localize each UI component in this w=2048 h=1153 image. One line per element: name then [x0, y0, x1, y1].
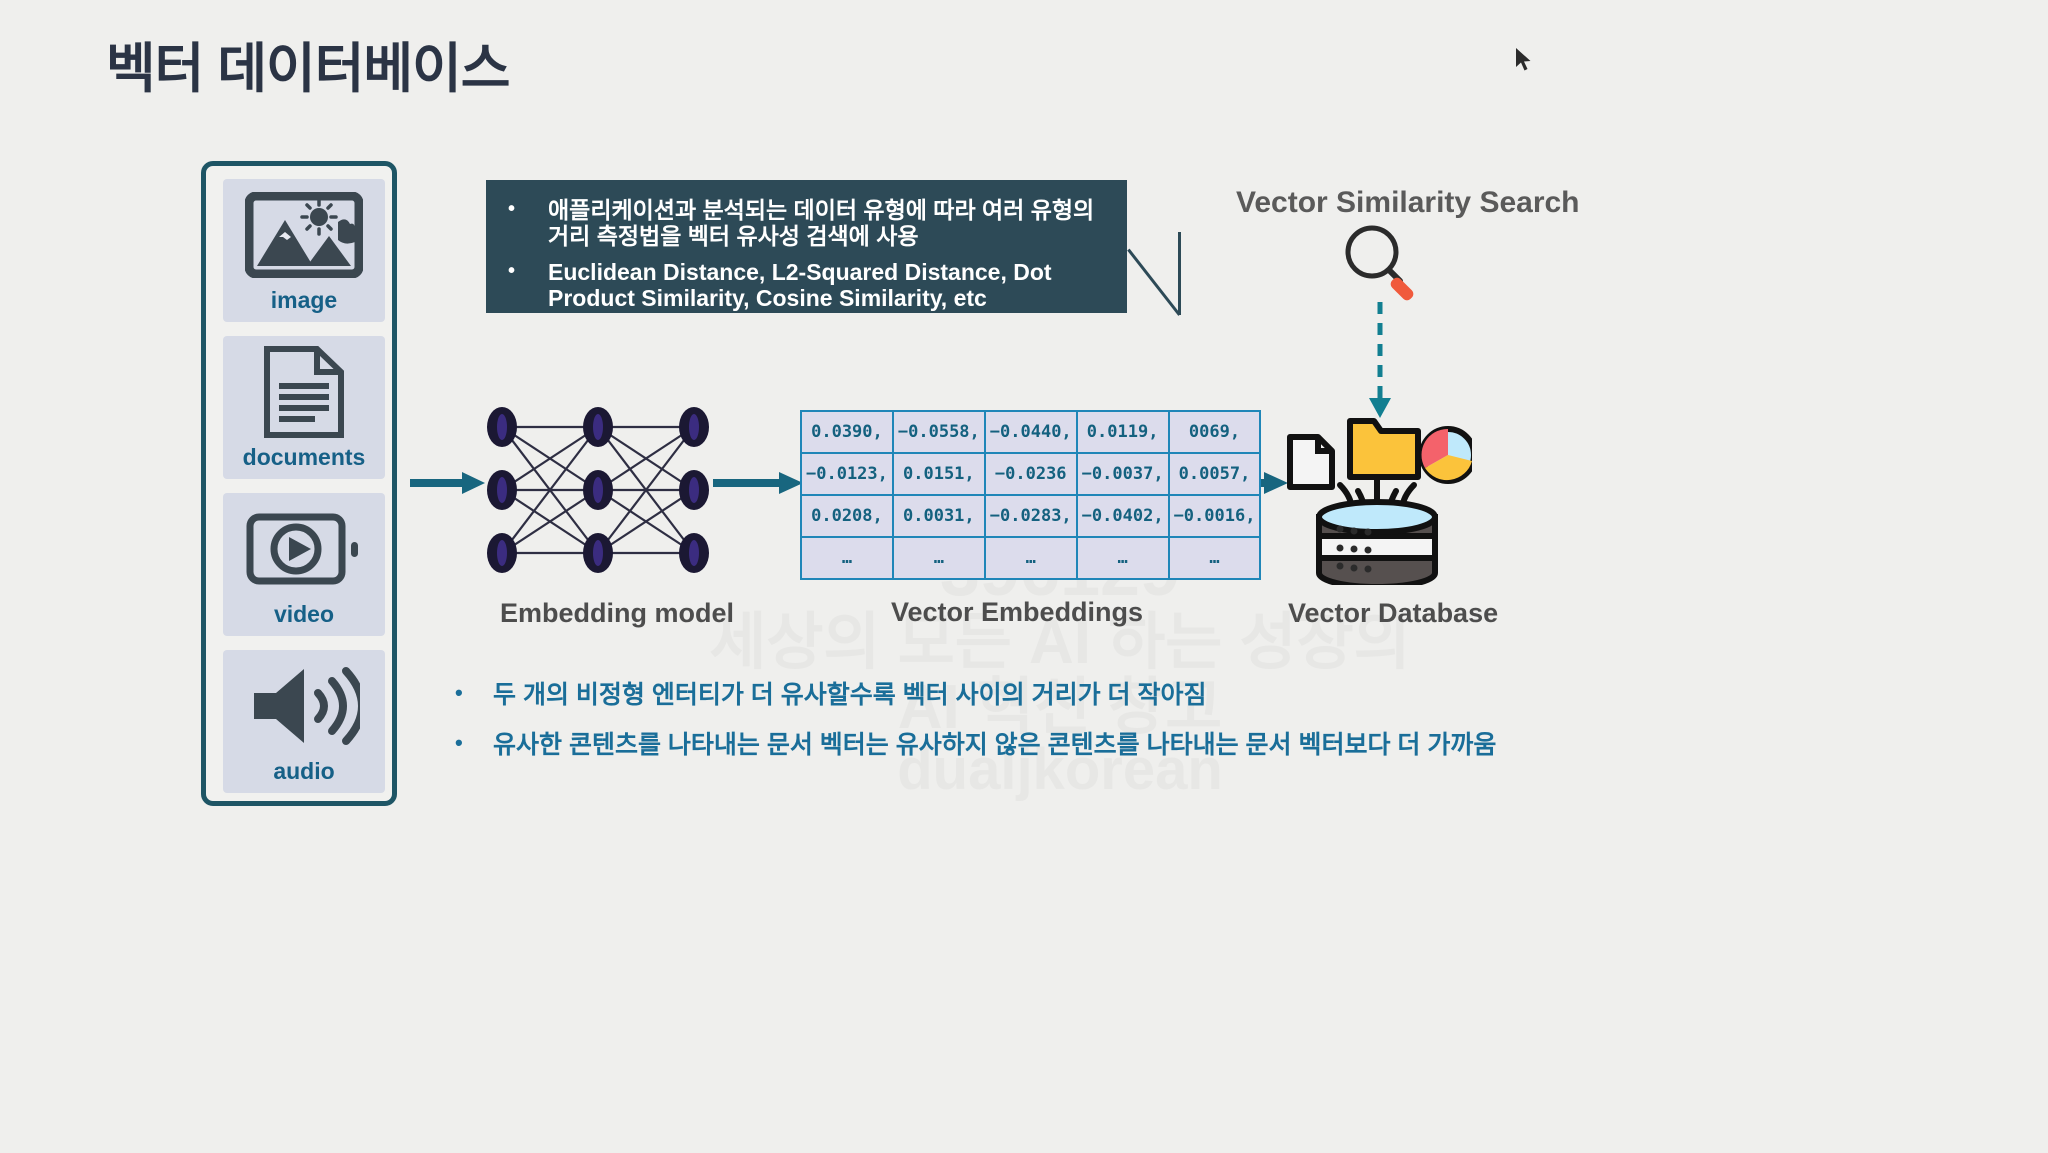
callout-item-2: • Euclidean Distance, L2-Squared Distanc…	[508, 259, 1105, 312]
vector-database-caption: Vector Database	[1288, 598, 1498, 629]
image-icon	[245, 187, 363, 283]
callout-item-2-text: Euclidean Distance, L2-Squared Distance,…	[548, 259, 1105, 312]
table-cell: −0.0123,	[801, 453, 893, 495]
vector-axis-diagonal	[1127, 249, 1180, 316]
table-cell: −0.0236	[985, 453, 1077, 495]
media-card-video[interactable]: video	[223, 493, 385, 636]
audio-icon	[248, 658, 360, 754]
table-cell: −0.0016,	[1169, 495, 1261, 537]
database-icon	[1282, 405, 1472, 585]
table-cell: −0.0037,	[1077, 453, 1169, 495]
magnifier-icon	[1340, 222, 1418, 302]
bullet-icon: •	[455, 680, 493, 706]
table-cell: …	[1077, 537, 1169, 579]
vector-axis-vertical	[1178, 232, 1181, 315]
table-row: … … … … …	[801, 537, 1260, 579]
media-label-image: image	[271, 287, 337, 314]
vector-embeddings-caption: Vector Embeddings	[891, 597, 1143, 628]
table-cell: …	[1169, 537, 1261, 579]
bullet-icon: •	[508, 259, 548, 284]
table-cell: 0.0119,	[1077, 411, 1169, 453]
table-cell: 0.0057,	[1169, 453, 1261, 495]
table-cell: 0.0208,	[801, 495, 893, 537]
table-row: −0.0123, 0.0151, −0.0236 −0.0037, 0.0057…	[801, 453, 1260, 495]
document-icon	[259, 344, 349, 440]
bullet-icon: •	[508, 197, 548, 222]
vector-similarity-search-label: Vector Similarity Search	[1236, 186, 1580, 220]
dashed-arrow-down-icon	[1360, 300, 1400, 420]
table-row: 0.0208, 0.0031, −0.0283, −0.0402, −0.001…	[801, 495, 1260, 537]
media-card-audio[interactable]: audio	[223, 650, 385, 793]
video-icon	[245, 501, 363, 597]
table-cell: …	[893, 537, 985, 579]
table-cell: 0.0390,	[801, 411, 893, 453]
neural-network-diagram	[478, 405, 718, 575]
callout-item-1-text: 애플리케이션과 분석되는 데이터 유형에 따라 여러 유형의 거리 측정법을 벡…	[548, 197, 1105, 250]
media-card-image[interactable]: image	[223, 179, 385, 322]
media-label-video: video	[274, 601, 334, 628]
arrow-right-icon	[410, 470, 485, 496]
bullet-icon: •	[455, 730, 493, 756]
bottom-notes-list: • 두 개의 비정형 엔터티가 더 유사할수록 벡터 사이의 거리가 더 작아짐…	[455, 680, 1455, 780]
bottom-note-1: • 두 개의 비정형 엔터티가 더 유사할수록 벡터 사이의 거리가 더 작아짐	[455, 680, 1455, 710]
callout-list: • 애플리케이션과 분석되는 데이터 유형에 따라 여러 유형의 거리 측정법을…	[508, 197, 1105, 312]
bottom-note-2: • 유사한 콘텐츠를 나타내는 문서 벡터는 유사하지 않은 콘텐츠를 나타내는…	[455, 730, 1455, 760]
arrow-right-icon	[713, 470, 803, 496]
table-cell: −0.0402,	[1077, 495, 1169, 537]
distance-metrics-callout: • 애플리케이션과 분석되는 데이터 유형에 따라 여러 유형의 거리 측정법을…	[486, 180, 1127, 313]
page-title: 벡터 데이터베이스	[106, 24, 509, 103]
table-cell: −0.0440,	[985, 411, 1077, 453]
callout-item-1: • 애플리케이션과 분석되는 데이터 유형에 따라 여러 유형의 거리 측정법을…	[508, 197, 1105, 250]
media-label-audio: audio	[273, 758, 334, 785]
vector-embeddings-table: 0.0390, −0.0558, −0.0440, 0.0119, 0069, …	[800, 410, 1261, 580]
mouse-cursor-icon	[1516, 48, 1534, 74]
table-cell: …	[985, 537, 1077, 579]
table-cell: 0.0031,	[893, 495, 985, 537]
table-cell: −0.0558,	[893, 411, 985, 453]
bottom-note-1-text: 두 개의 비정형 엔터티가 더 유사할수록 벡터 사이의 거리가 더 작아짐	[493, 680, 1455, 710]
embedding-model-caption: Embedding model	[500, 598, 734, 629]
table-cell: 0.0151,	[893, 453, 985, 495]
table-body: 0.0390, −0.0558, −0.0440, 0.0119, 0069, …	[801, 411, 1260, 579]
table-cell: −0.0283,	[985, 495, 1077, 537]
media-sources-panel: image documents	[201, 161, 397, 806]
table-cell: …	[801, 537, 893, 579]
media-label-documents: documents	[243, 444, 366, 471]
media-card-documents[interactable]: documents	[223, 336, 385, 479]
table-cell: 0069,	[1169, 411, 1261, 453]
bottom-note-2-text: 유사한 콘텐츠를 나타내는 문서 벡터는 유사하지 않은 콘텐츠를 나타내는 문…	[493, 730, 1496, 760]
table-row: 0.0390, −0.0558, −0.0440, 0.0119, 0069,	[801, 411, 1260, 453]
